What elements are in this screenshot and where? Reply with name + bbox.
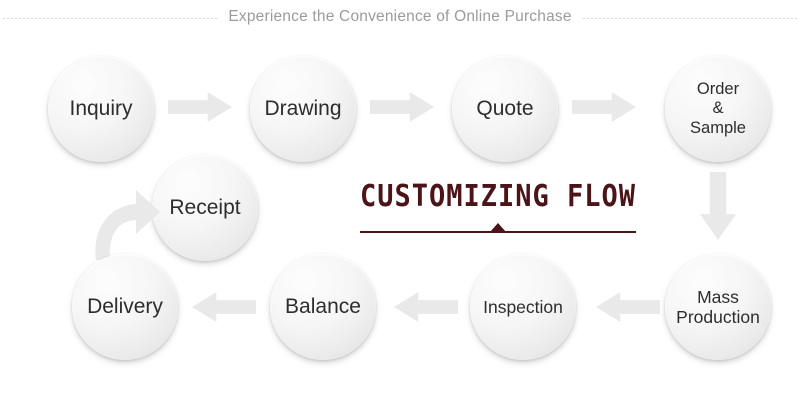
node-drawing-label: Drawing: [260, 98, 345, 121]
arrow-mass-production-to-inspection: [596, 292, 660, 322]
header-dotted-rule-left: [2, 18, 218, 19]
arrow-quote-to-order-sample: [572, 92, 636, 122]
up-triangle-icon: [490, 223, 506, 232]
node-inspection[interactable]: Inspection: [470, 254, 576, 360]
node-inquiry[interactable]: Inquiry: [48, 56, 154, 162]
arrow-delivery-to-receipt: [86, 186, 162, 264]
node-balance-label: Balance: [281, 296, 365, 319]
node-balance[interactable]: Balance: [270, 254, 376, 360]
header-title: Experience the Convenience of Online Pur…: [228, 8, 571, 26]
node-drawing[interactable]: Drawing: [250, 56, 356, 162]
node-inspection-label: Inspection: [479, 297, 567, 317]
node-delivery[interactable]: Delivery: [72, 254, 178, 360]
header-band: Experience the Convenience of Online Pur…: [0, 0, 800, 34]
arrow-drawing-to-quote: [370, 92, 434, 122]
arrow-inspection-to-balance: [394, 292, 458, 322]
arrow-balance-to-delivery: [192, 292, 256, 322]
node-receipt[interactable]: Receipt: [152, 155, 258, 261]
customizing-flow-diagram: Experience the Convenience of Online Pur…: [0, 0, 800, 402]
node-delivery-label: Delivery: [83, 296, 167, 319]
node-receipt-label: Receipt: [165, 197, 244, 220]
node-quote[interactable]: Quote: [452, 56, 558, 162]
center-title-block: CUSTOMIZING FLOW: [355, 183, 641, 235]
node-mass-production-label: Mass Production: [672, 287, 764, 328]
node-mass-production[interactable]: Mass Production: [665, 254, 771, 360]
arrow-order-sample-to-mass-production: [700, 172, 736, 240]
node-order-sample[interactable]: Order & Sample: [665, 56, 771, 162]
arrow-inquiry-to-drawing: [168, 92, 232, 122]
center-title-text: CUSTOMIZING FLOW: [360, 179, 636, 214]
node-inquiry-label: Inquiry: [65, 98, 136, 121]
node-quote-label: Quote: [472, 98, 537, 121]
header-dotted-rule-right: [582, 18, 798, 19]
node-order-sample-label: Order & Sample: [686, 80, 750, 138]
center-title-rule-group: [360, 223, 636, 235]
